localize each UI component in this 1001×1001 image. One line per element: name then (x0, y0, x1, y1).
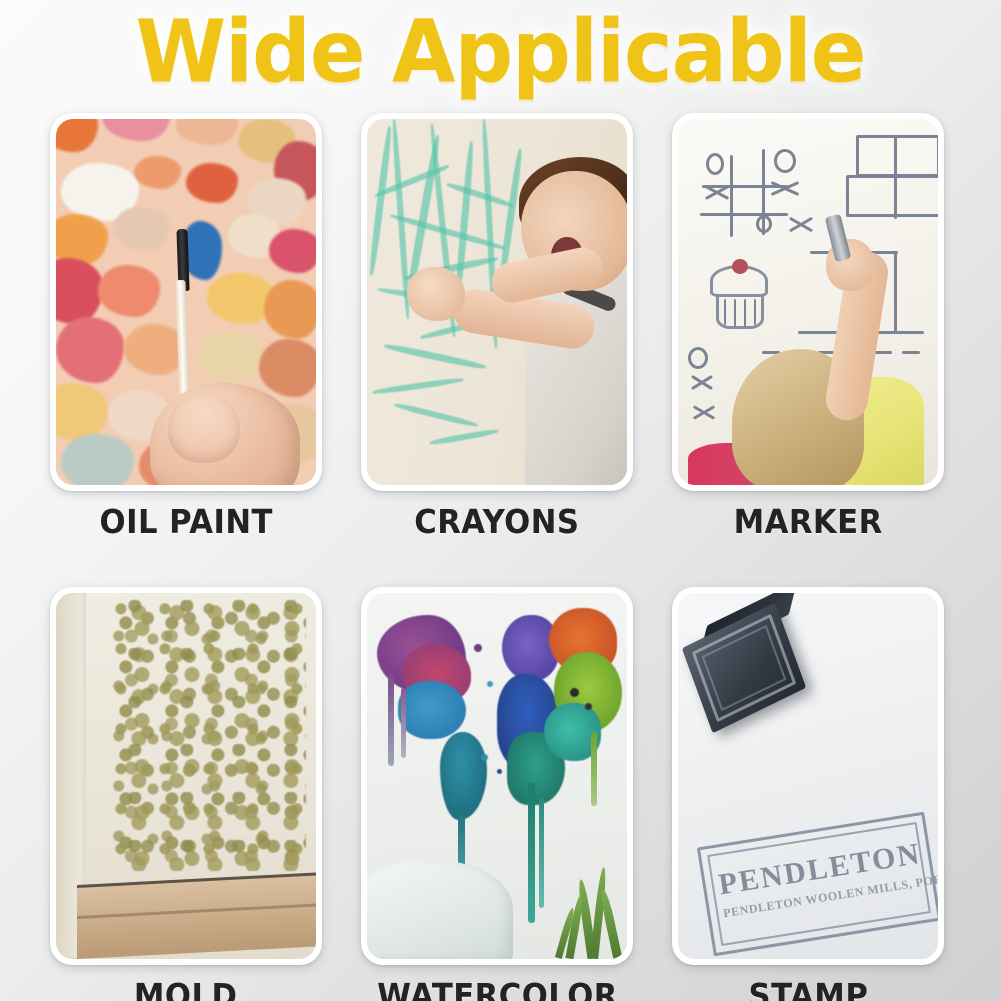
grid-cell-watercolor[interactable]: WATERCOLOR (361, 587, 633, 1001)
wall-box-drawing (846, 175, 938, 217)
grid-cell-stamp[interactable]: PENDLETON PENDLETON WOOLEN MILLS, PORTLA… (672, 587, 944, 1001)
cupcake-line (734, 299, 736, 327)
hangman-dash (874, 351, 892, 354)
paint-drip (528, 783, 535, 923)
page-title: Wide Applicable (136, 2, 866, 103)
grid-cell-crayons[interactable]: CRAYONS (361, 113, 633, 541)
photo-stamp: PENDLETON PENDLETON WOOLEN MILLS, PORTLA… (678, 593, 938, 959)
grid-cell-oil-paint[interactable]: OIL PAINT (50, 113, 322, 541)
photo-card-marker[interactable] (672, 113, 944, 491)
paint-drip (401, 688, 406, 758)
application-grid: OIL PAINT (50, 113, 955, 1001)
cell-label-mold: MOLD (134, 976, 238, 1001)
paint-splatter (570, 688, 579, 697)
photo-marker (678, 119, 938, 485)
cupcake-line (744, 299, 746, 327)
photo-card-oil-paint[interactable] (50, 113, 322, 491)
hangman-dash (902, 351, 920, 354)
grid-cell-marker[interactable]: MARKER (672, 113, 944, 541)
paint-drip (591, 732, 597, 806)
paint-splatter (487, 681, 493, 687)
paint-splatter (474, 644, 482, 652)
cherry-icon (732, 259, 748, 274)
photo-card-mold[interactable] (50, 587, 322, 965)
cell-label-stamp: STAMP (748, 976, 868, 1001)
photo-crayons (367, 119, 627, 485)
cell-label-watercolor: WATERCOLOR (377, 976, 618, 1001)
paint-drip (539, 798, 544, 908)
tictactoe-o (756, 215, 772, 233)
cupcake-line (754, 299, 756, 325)
page-header: Wide Applicable (0, 0, 1001, 104)
rubber-stamp-block (682, 603, 806, 734)
grid-cell-mold[interactable]: MOLD (50, 587, 322, 1001)
cell-label-oil-paint: OIL PAINT (99, 502, 272, 541)
tictactoe-o (774, 149, 796, 173)
hangman-post (894, 251, 897, 333)
map-north-america (398, 681, 466, 740)
cell-label-marker: MARKER (733, 502, 882, 541)
stamp-imprint: PENDLETON PENDLETON WOOLEN MILLS, PORTLA… (697, 812, 938, 957)
photo-card-stamp[interactable]: PENDLETON PENDLETON WOOLEN MILLS, PORTLA… (672, 587, 944, 965)
paint-splatter (497, 769, 502, 774)
paint-splatter (481, 754, 488, 761)
paint-drip (388, 674, 394, 766)
tictactoe-line (730, 155, 733, 237)
photo-mold (56, 593, 316, 959)
photo-oil-paint (56, 119, 316, 485)
photo-card-watercolor[interactable] (361, 587, 633, 965)
wall-box-drawing (856, 135, 938, 177)
mold-growth (113, 600, 305, 871)
plant-leaf (599, 889, 622, 959)
cupcake-line (724, 299, 726, 325)
hand-illustration (150, 383, 300, 485)
wall-box-divider (894, 135, 897, 219)
photo-watercolor (367, 593, 627, 959)
tictactoe-o (688, 347, 708, 369)
tictactoe-line (700, 213, 788, 216)
cell-label-crayons: CRAYONS (414, 502, 579, 541)
child-fist (407, 267, 465, 321)
wooden-baseboard (77, 872, 316, 959)
white-chair (367, 861, 513, 959)
tictactoe-o (706, 153, 724, 175)
photo-card-crayons[interactable] (361, 113, 633, 491)
